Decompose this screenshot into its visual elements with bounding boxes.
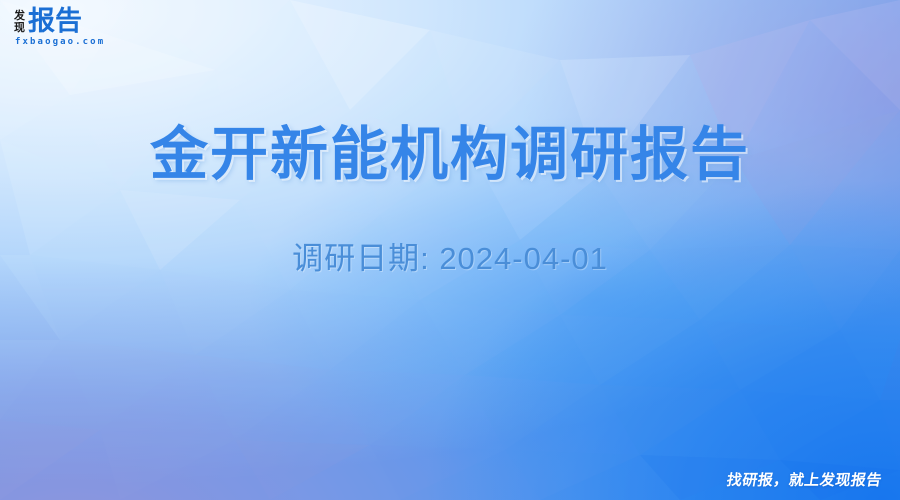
logo-domain: fxbaogao.com — [15, 38, 105, 47]
logo-text-baogao: 报告 — [28, 8, 82, 35]
title-container: 金开新能机构调研报告 — [0, 84, 900, 226]
logo-char-fa: 发 — [14, 10, 25, 22]
cover-slide: 发 现 报告 fxbaogao.com 金开新能机构调研报告 调研日期: 202… — [0, 0, 900, 500]
survey-date-subtitle: 调研日期: 2024-04-01 — [292, 233, 608, 278]
site-logo[interactable]: 发 现 报告 fxbaogao.com — [14, 8, 105, 47]
logo-char-xian: 现 — [14, 22, 25, 34]
footer-tagline: 找研报，就上发现报告 — [725, 469, 883, 490]
subtitle-container: 调研日期: 2024-04-01 — [0, 233, 900, 278]
logo-stacked-chars: 发 现 — [14, 9, 25, 34]
logo-wordmark-row: 发 现 报告 — [14, 8, 82, 35]
page-title: 金开新能机构调研报告 — [150, 123, 750, 187]
